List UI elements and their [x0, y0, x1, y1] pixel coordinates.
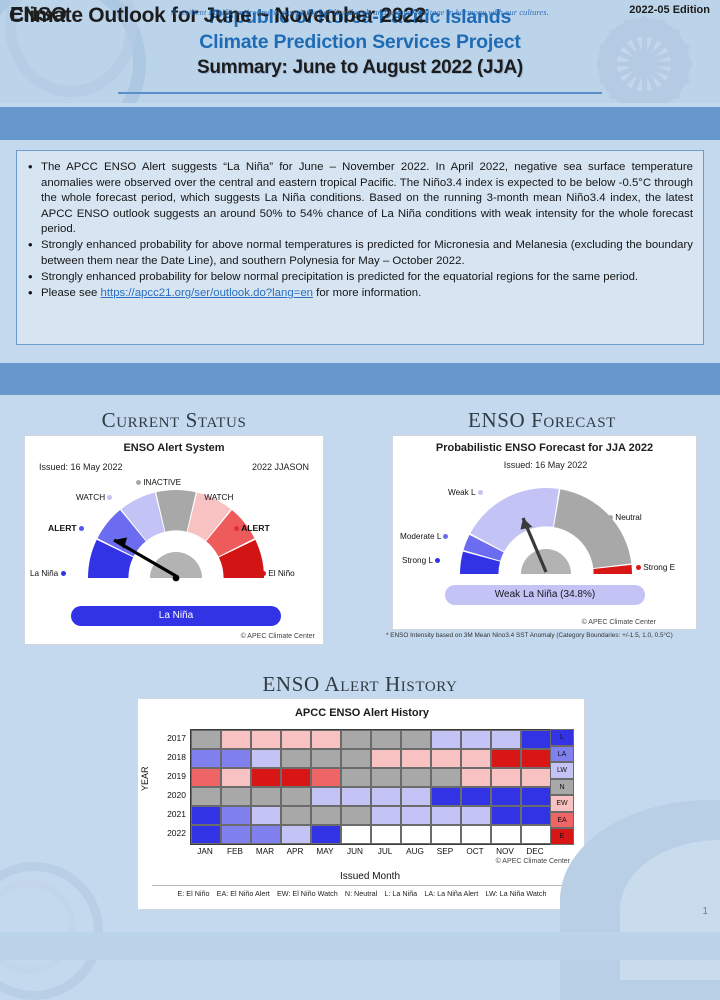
heatmap-cell [221, 730, 251, 749]
heatmap-cell [311, 730, 341, 749]
heatmap-cell [251, 787, 281, 806]
heatmap-cell [461, 730, 491, 749]
legend-swatch-n: N [550, 779, 574, 796]
inactive-label-text: INACTIVE [143, 478, 181, 487]
heatmap-cell [191, 768, 221, 787]
gauge-label-weak-l: Weak L [448, 488, 483, 497]
heatmap-month-label: DEC [520, 847, 550, 856]
heatmap-cell [281, 806, 311, 825]
heatmap-cell [431, 730, 461, 749]
enso-alert-history-title: ENSO Alert History [210, 672, 510, 697]
heatmap-cell [371, 749, 401, 768]
heatmap-cell [401, 825, 431, 844]
page-title-line3: Summary: June to August 2022 (JJA) [0, 55, 720, 81]
outlook-link[interactable]: https://apcc21.org/ser/outlook.do?lang=e… [101, 287, 313, 299]
alert-left-label-text: ALERT [48, 523, 77, 533]
strong-l-label-text: Strong L [402, 556, 433, 565]
heatmap-cell [281, 730, 311, 749]
heatmap-cell [431, 787, 461, 806]
heatmap-cell [431, 749, 461, 768]
heatmap-cell [221, 825, 251, 844]
heatmap-cell [281, 825, 311, 844]
heatmap-cell [521, 768, 551, 787]
legend-swatch-la: LA [550, 746, 574, 763]
alert-right-dot-icon [234, 526, 239, 531]
page-title-line2: Climate Prediction Services Project [0, 30, 720, 55]
history-divider [152, 885, 572, 886]
heatmap-cell [311, 768, 341, 787]
heatmap-month-label: SEP [430, 847, 460, 856]
bullet-text-4-suffix: for more information. [313, 287, 421, 299]
history-legend-key: E: El Niño EA: El Niño Alert EW: El Niño… [138, 889, 586, 898]
gauge-label-strong-e: Strong E [636, 563, 675, 572]
gauge-label-strong-l: Strong L [402, 556, 440, 565]
heatmap-cell [371, 825, 401, 844]
current-status-title: Current Status [24, 408, 324, 433]
gauge-label-neutral: Neutral [608, 513, 642, 522]
watch-right-dot-icon [197, 495, 202, 500]
heatmap-cell [221, 787, 251, 806]
forecast-chart-title: Probabilistic ENSO Forecast for JJA 2022 [393, 442, 696, 454]
bullet-text-1: The APCC ENSO Alert suggests “La Niña” f… [41, 161, 693, 235]
history-y-axis-label: YEAR [140, 766, 150, 791]
legend-swatch-e: E [550, 828, 574, 845]
heatmap-year-label: 2021 [154, 809, 186, 819]
heatmap-cell [251, 768, 281, 787]
heatmap-cell [341, 730, 371, 749]
list-item: Strongly enhanced probability for above … [23, 238, 693, 269]
gauge-label-el-nino: El Niño [261, 569, 295, 578]
history-legend: LLALWNEWEAE [550, 729, 574, 845]
heatmap-cell [521, 730, 551, 749]
heatmap-month-label: APR [280, 847, 310, 856]
la-nina-dot-icon [61, 571, 66, 576]
heatmap-cell [251, 749, 281, 768]
heatmap-year-label: 2022 [154, 828, 186, 838]
history-x-axis-label: Issued Month [190, 871, 550, 882]
alert-right-label-text: ALERT [241, 523, 270, 533]
weak-l-label-text: Weak L [448, 488, 475, 497]
el-nino-label-text: El Niño [268, 569, 294, 578]
enso-forecast-chart-panel: Probabilistic ENSO Forecast for JJA 2022… [392, 435, 697, 630]
heatmap-cell [371, 787, 401, 806]
heatmap-year-label: 2017 [154, 733, 186, 743]
heatmap-month-label: MAY [310, 847, 340, 856]
alert-system-season: 2022 JJASON [252, 462, 309, 472]
heatmap-month-label: JAN [190, 847, 220, 856]
heatmap-cell [401, 730, 431, 749]
heatmap-cell [521, 825, 551, 844]
heatmap-year-label: 2018 [154, 752, 186, 762]
heatmap-cell [401, 806, 431, 825]
gauge-label-la-nina: La Niña [30, 569, 66, 578]
gauge-label-inactive: INACTIVE [136, 478, 181, 487]
watch-right-label-text: WATCH [204, 493, 233, 502]
current-status-chart-panel: ENSO Alert System Issued: 16 May 2022 20… [24, 435, 324, 645]
heatmap-cell [371, 806, 401, 825]
heatmap-cell [221, 768, 251, 787]
heatmap-month-label: NOV [490, 847, 520, 856]
forecast-issued-date: Issued: 16 May 2022 [393, 460, 698, 470]
bullet-text-2: Strongly enhanced probability for above … [41, 239, 693, 267]
page-number: 1 [702, 906, 708, 917]
heatmap-cell [491, 749, 521, 768]
history-chart-title: APCC ENSO Alert History [138, 707, 586, 719]
heatmap-cell [191, 730, 221, 749]
heatmap-cell [251, 806, 281, 825]
heatmap-cell [191, 825, 221, 844]
enso-section-band [0, 363, 720, 395]
el-nino-dot-icon [261, 571, 266, 576]
heatmap-cell [461, 749, 491, 768]
heatmap-cell [281, 768, 311, 787]
strong-l-dot-icon [435, 558, 440, 563]
legend-swatch-lw: LW [550, 762, 574, 779]
heatmap-cell [461, 768, 491, 787]
weak-l-dot-icon [478, 490, 483, 495]
heatmap-year-label: 2019 [154, 771, 186, 781]
page-footer [0, 932, 720, 960]
heatmap-cell [371, 730, 401, 749]
moderate-l-dot-icon [443, 534, 448, 539]
gauge-label-alert-left: ALERT [48, 523, 84, 533]
list-item: The APCC ENSO Alert suggests “La Niña” f… [23, 160, 693, 238]
heatmap-cell [341, 749, 371, 768]
heatmap-cell [191, 806, 221, 825]
heatmap-month-label: AUG [400, 847, 430, 856]
forecast-copyright: © APEC Climate Center [582, 619, 656, 626]
heatmap-cell [521, 787, 551, 806]
heatmap-cell [401, 787, 431, 806]
heatmap-cell [221, 749, 251, 768]
legend-swatch-l: L [550, 729, 574, 746]
list-item: Please see https://apcc21.org/ser/outloo… [23, 286, 693, 302]
outlook-section-band [0, 107, 720, 140]
gauge-label-moderate-l: Moderate L [400, 532, 448, 541]
heatmap-cell [341, 768, 371, 787]
heatmap-cell [491, 806, 521, 825]
heatmap-cell [311, 749, 341, 768]
heatmap-month-label: JUL [370, 847, 400, 856]
history-heatmap-grid [190, 729, 552, 845]
heatmap-cell [371, 768, 401, 787]
outlook-bullet-list: The APCC ENSO Alert suggests “La Niña” f… [17, 151, 703, 302]
heatmap-cell [431, 825, 461, 844]
heatmap-cell [341, 825, 371, 844]
heatmap-month-label: JUN [340, 847, 370, 856]
strong-e-label-text: Strong E [643, 563, 675, 572]
alert-system-copyright: © APEC Climate Center [241, 633, 315, 640]
gauge-label-watch-right: WATCH [197, 493, 233, 502]
heatmap-cell [491, 768, 521, 787]
current-status-result-pill: La Niña [71, 606, 281, 626]
enso-alert-history-panel: APCC ENSO Alert History YEAR 20172018201… [137, 698, 585, 910]
alert-left-dot-icon [79, 526, 84, 531]
heatmap-cell [461, 806, 491, 825]
watch-left-dot-icon [107, 495, 112, 500]
outlook-content-box: The APCC ENSO Alert suggests “La Niña” f… [16, 150, 704, 345]
heatmap-month-label: OCT [460, 847, 490, 856]
heatmap-cell [311, 787, 341, 806]
strong-e-dot-icon [636, 565, 641, 570]
heatmap-cell [521, 749, 551, 768]
heatmap-cell [191, 787, 221, 806]
gauge-label-watch-left: WATCH [76, 493, 112, 502]
footer-tagline: A resilient Pacific environment, sustain… [0, 7, 720, 17]
heatmap-cell [341, 806, 371, 825]
bullet-text-3: Strongly enhanced probability for below … [41, 271, 638, 283]
neutral-dot-icon [608, 515, 613, 520]
heatmap-cell [491, 730, 521, 749]
heatmap-cell [491, 787, 521, 806]
heatmap-cell [251, 730, 281, 749]
heatmap-cell [431, 768, 461, 787]
inactive-dot-icon [136, 480, 141, 485]
history-copyright: © APEC Climate Center [496, 858, 570, 865]
heatmap-cell [521, 806, 551, 825]
heatmap-cell [461, 825, 491, 844]
heatmap-cell [401, 768, 431, 787]
heatmap-cell [461, 787, 491, 806]
legend-swatch-ew: EW [550, 795, 574, 812]
enso-forecast-title: ENSO Forecast [392, 408, 692, 433]
bullet-text-4-prefix: Please see [41, 287, 101, 299]
header-divider [118, 92, 602, 94]
heatmap-cell [311, 806, 341, 825]
neutral-label-text: Neutral [615, 513, 641, 522]
heatmap-cell [251, 825, 281, 844]
alert-system-issued-date: Issued: 16 May 2022 [39, 462, 123, 472]
forecast-footnote: * ENSO Intensity based on 3M Mean Nino3.… [386, 632, 716, 639]
heatmap-cell [311, 825, 341, 844]
heatmap-cell [221, 806, 251, 825]
heatmap-cell [281, 749, 311, 768]
heatmap-cell [491, 825, 521, 844]
heatmap-year-label: 2020 [154, 790, 186, 800]
heatmap-month-label: FEB [220, 847, 250, 856]
heatmap-cell [341, 787, 371, 806]
heatmap-cell [281, 787, 311, 806]
heatmap-cell [431, 806, 461, 825]
legend-swatch-ea: EA [550, 812, 574, 829]
heatmap-month-label: MAR [250, 847, 280, 856]
heatmap-cell [191, 749, 221, 768]
heatmap-cell [401, 749, 431, 768]
la-nina-label-text: La Niña [30, 569, 58, 578]
watch-left-label-text: WATCH [76, 493, 105, 502]
forecast-result-pill: Weak La Niña (34.8%) [445, 585, 645, 605]
gauge-label-alert-right: ALERT [234, 523, 270, 533]
moderate-l-label-text: Moderate L [400, 532, 441, 541]
alert-system-chart-title: ENSO Alert System [25, 442, 323, 454]
list-item: Strongly enhanced probability for below … [23, 270, 693, 286]
